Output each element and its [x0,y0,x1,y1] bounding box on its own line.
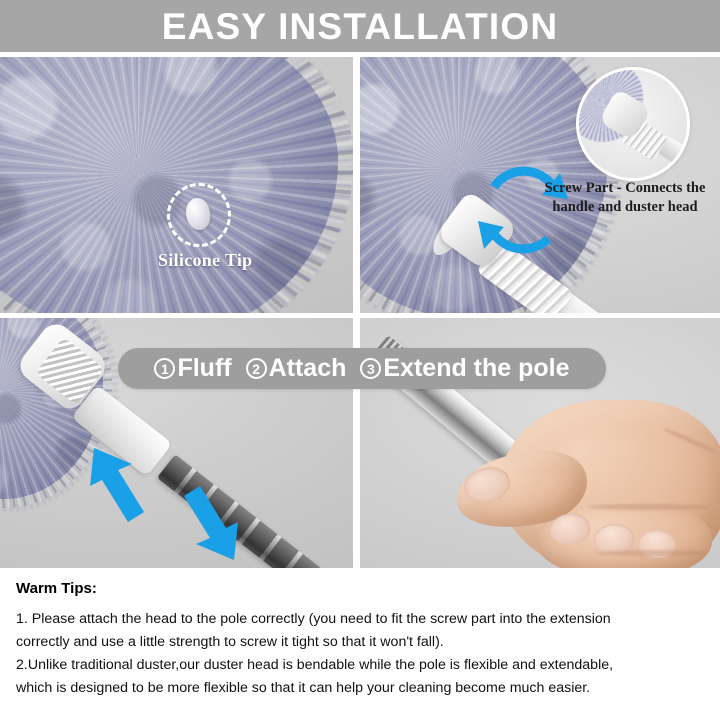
page-title: EASY INSTALLATION [162,8,559,45]
panel-screw-part: Screw Part - Connects the handle and dus… [360,57,720,313]
step-label: Extend the pole [383,356,569,381]
silicone-tip-label: Silicone Tip [158,250,252,271]
panel-grid: Silicone Tip [0,52,720,568]
step-number-badge: 3 [360,358,381,379]
hand-crease [588,504,708,510]
step-item-1: 1 Fluff [154,356,231,381]
warm-tips-line-4: which is designed to be more flexible so… [16,677,704,700]
step-number-badge: 1 [154,358,175,379]
warm-tips-line-2: correctly and use a little strength to s… [16,631,704,654]
warm-tips-section: Warm Tips: 1. Please attach the head to … [0,568,720,720]
screw-part-label: Screw Part - Connects the handle and dus… [530,179,720,217]
step-item-2: 2 Attach [246,356,347,381]
warm-tips-line-3: 2.Unlike traditional duster,our duster h… [16,654,704,677]
panel-duster-head: Silicone Tip [0,57,353,313]
warm-tips-line-1: 1. Please attach the head to the pole co… [16,608,704,631]
step-label: Attach [269,356,347,381]
step-banner: 1 Fluff 2 Attach 3 Extend the pole [118,348,606,389]
step-item-3: 3 Extend the pole [360,356,569,381]
step-number-badge: 2 [246,358,267,379]
warm-tips-title: Warm Tips: [16,580,704,597]
header-band: EASY INSTALLATION [0,0,720,52]
infographic-page: EASY INSTALLATION Silicone Tip [0,0,720,720]
hand-crease [596,550,706,556]
dashed-highlight-circle [167,183,231,247]
duster-head-image [0,57,338,313]
extend-double-arrow-icon [88,440,240,568]
magnified-inset-circle [576,67,690,181]
step-label: Fluff [177,356,231,381]
